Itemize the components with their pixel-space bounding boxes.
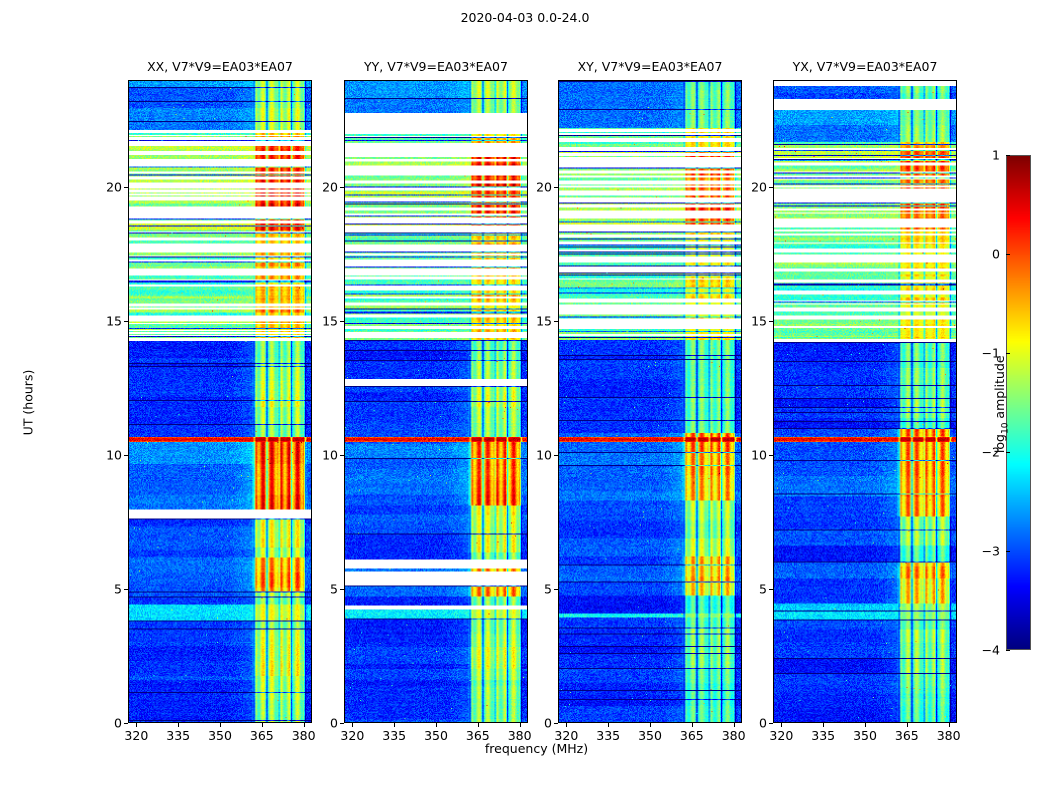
y-tick-mark	[340, 723, 344, 724]
panel-title-yy: YY, V7*V9=EA03*EA07	[345, 59, 527, 74]
colorbar-tick-label: −1	[970, 346, 1000, 361]
heatmap-panel-xx[interactable]: XX, V7*V9=EA03*EA07	[128, 80, 312, 723]
x-tick-mark	[781, 723, 782, 727]
colorbar-tick-label: −2	[970, 445, 1000, 460]
y-tick-mark	[769, 455, 773, 456]
x-tick-mark	[865, 723, 866, 727]
colorbar-gradient	[1007, 156, 1030, 649]
x-tick-label: 335	[811, 728, 835, 743]
y-tick-label: 20	[94, 180, 122, 195]
colorbar-tick-label: 0	[970, 247, 1000, 262]
y-tick-mark	[769, 321, 773, 322]
y-tick-label: 5	[739, 582, 767, 597]
y-tick-mark	[769, 723, 773, 724]
colorbar-tick-label: 1	[970, 148, 1000, 163]
x-tick-label: 380	[937, 728, 961, 743]
y-tick-mark	[124, 589, 128, 590]
y-tick-mark	[340, 589, 344, 590]
x-tick-mark	[520, 723, 521, 727]
y-tick-label: 15	[310, 314, 338, 329]
y-tick-label: 0	[310, 716, 338, 731]
y-tick-label: 10	[310, 448, 338, 463]
figure-canvas: 2020-04-03 0.0-24.0 UT (hours) frequency…	[0, 0, 1050, 800]
y-tick-label: 5	[310, 582, 338, 597]
x-tick-mark	[394, 723, 395, 727]
y-tick-mark	[124, 723, 128, 724]
x-tick-mark	[734, 723, 735, 727]
x-tick-label: 320	[769, 728, 793, 743]
y-tick-label: 15	[94, 314, 122, 329]
x-tick-label: 365	[680, 728, 704, 743]
x-tick-mark	[304, 723, 305, 727]
x-tick-label: 350	[208, 728, 232, 743]
y-tick-label: 20	[739, 180, 767, 195]
x-tick-label: 335	[596, 728, 620, 743]
colorbar-tick-mark	[1006, 452, 1010, 453]
colorbar-tick-mark	[1006, 650, 1010, 651]
x-tick-mark	[220, 723, 221, 727]
x-axis-label: frequency (MHz)	[128, 741, 945, 756]
x-tick-mark	[178, 723, 179, 727]
x-tick-label: 365	[895, 728, 919, 743]
y-axis-label: UT (hours)	[21, 333, 36, 473]
x-tick-mark	[650, 723, 651, 727]
x-tick-label: 350	[638, 728, 662, 743]
y-tick-mark	[769, 589, 773, 590]
y-tick-mark	[554, 321, 558, 322]
spectrogram-image-xy	[559, 81, 741, 722]
x-tick-label: 320	[554, 728, 578, 743]
x-tick-mark	[608, 723, 609, 727]
y-tick-mark	[340, 187, 344, 188]
x-tick-mark	[478, 723, 479, 727]
y-tick-mark	[124, 187, 128, 188]
y-tick-label: 5	[94, 582, 122, 597]
x-tick-mark	[949, 723, 950, 727]
y-tick-mark	[124, 455, 128, 456]
y-tick-label: 20	[310, 180, 338, 195]
panel-title-yx: YX, V7*V9=EA03*EA07	[774, 59, 956, 74]
y-tick-label: 15	[739, 314, 767, 329]
y-tick-label: 5	[524, 582, 552, 597]
figure-suptitle: 2020-04-03 0.0-24.0	[0, 10, 1050, 25]
x-tick-label: 320	[340, 728, 364, 743]
x-tick-label: 350	[424, 728, 448, 743]
x-tick-label: 320	[124, 728, 148, 743]
colorbar-tick-label: −3	[970, 544, 1000, 559]
x-tick-mark	[907, 723, 908, 727]
y-tick-mark	[554, 723, 558, 724]
x-tick-mark	[436, 723, 437, 727]
y-tick-mark	[554, 187, 558, 188]
y-tick-label: 15	[524, 314, 552, 329]
x-tick-mark	[262, 723, 263, 727]
colorbar-tick-label: −4	[970, 643, 1000, 658]
x-tick-label: 365	[250, 728, 274, 743]
y-tick-label: 0	[94, 716, 122, 731]
spectrogram-image-yy	[345, 81, 527, 722]
colorbar-tick-mark	[1006, 155, 1010, 156]
spectrogram-image-yx	[774, 81, 956, 722]
x-tick-mark	[136, 723, 137, 727]
y-tick-label: 10	[524, 448, 552, 463]
x-tick-mark	[566, 723, 567, 727]
x-tick-mark	[352, 723, 353, 727]
y-tick-label: 10	[739, 448, 767, 463]
y-tick-label: 0	[739, 716, 767, 731]
panel-title-xy: XY, V7*V9=EA03*EA07	[559, 59, 741, 74]
y-tick-mark	[340, 455, 344, 456]
y-tick-mark	[554, 455, 558, 456]
colorbar-tick-mark	[1006, 353, 1010, 354]
x-tick-mark	[692, 723, 693, 727]
heatmap-panel-xy[interactable]: XY, V7*V9=EA03*EA07	[558, 80, 742, 723]
x-tick-label: 335	[166, 728, 190, 743]
y-tick-label: 0	[524, 716, 552, 731]
y-tick-mark	[769, 187, 773, 188]
spectrogram-image-xx	[129, 81, 311, 722]
colorbar-tick-mark	[1006, 254, 1010, 255]
y-tick-mark	[554, 589, 558, 590]
x-tick-mark	[823, 723, 824, 727]
colorbar-tick-mark	[1006, 551, 1010, 552]
y-tick-mark	[340, 321, 344, 322]
y-tick-mark	[124, 321, 128, 322]
heatmap-panel-yx[interactable]: YX, V7*V9=EA03*EA07	[773, 80, 957, 723]
heatmap-panel-yy[interactable]: YY, V7*V9=EA03*EA07	[344, 80, 528, 723]
x-tick-label: 350	[853, 728, 877, 743]
x-tick-label: 365	[466, 728, 490, 743]
y-tick-label: 10	[94, 448, 122, 463]
panel-title-xx: XX, V7*V9=EA03*EA07	[129, 59, 311, 74]
x-tick-label: 335	[382, 728, 406, 743]
y-tick-label: 20	[524, 180, 552, 195]
